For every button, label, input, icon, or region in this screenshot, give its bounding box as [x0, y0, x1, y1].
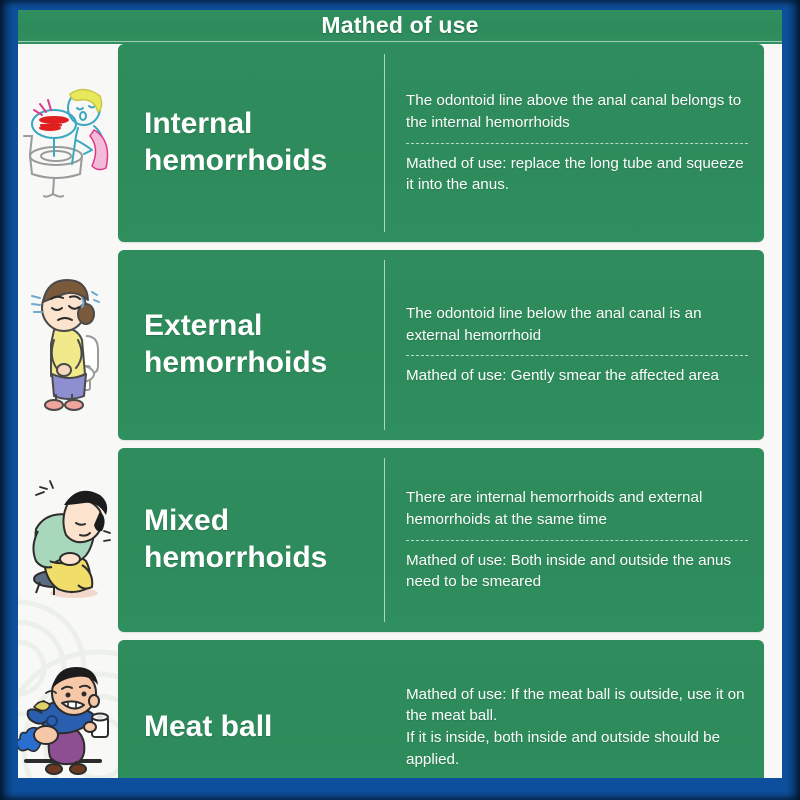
card-vertical-divider	[384, 458, 385, 622]
man-with-toilet-paper-illustration	[18, 657, 118, 778]
card-title-cell: Internal hemorrhoids	[118, 44, 384, 242]
illustration-cell	[18, 250, 118, 440]
card-dashed-divider	[406, 540, 748, 541]
card-description: There are internal hemorrhoids and exter…	[406, 487, 750, 530]
content-card: External hemorrhoids The odontoid line b…	[118, 250, 764, 440]
card-dashed-divider	[406, 143, 748, 144]
poster-body: Internal hemorrhoids The odontoid line a…	[18, 44, 782, 778]
content-card: Mixed hemorrhoids There are internal hem…	[118, 448, 764, 632]
card-title-cell: External hemorrhoids	[118, 250, 384, 440]
page-title: Mathed of use	[321, 14, 478, 40]
row-list: Internal hemorrhoids The odontoid line a…	[18, 44, 782, 778]
card-body-cell: The odontoid line above the anal canal b…	[384, 44, 764, 242]
card-method: Mathed of use: Gently smear the affected…	[406, 365, 750, 387]
poster-inner-panel: Mathed of use	[18, 10, 782, 778]
card-method: Mathed of use: replace the long tube and…	[406, 153, 750, 196]
card-dashed-divider	[406, 355, 748, 356]
content-card: Internal hemorrhoids The odontoid line a…	[118, 44, 764, 242]
card-method: Mathed of use: If the meat ball is outsi…	[406, 684, 750, 770]
card-method: Mathed of use: Both inside and outside t…	[406, 550, 750, 593]
illustration-cell	[18, 448, 118, 632]
man-hunched-on-stool-illustration	[20, 465, 116, 615]
person-at-toilet-bleeding-illustration	[20, 68, 116, 218]
illustration-cell	[18, 44, 118, 242]
poster-title-bar: Mathed of use	[18, 10, 782, 44]
card-description: The odontoid line above the anal canal b…	[406, 90, 750, 133]
card-body-cell: The odontoid line below the anal canal i…	[384, 250, 764, 440]
title-underline	[18, 41, 782, 42]
card-title: Internal hemorrhoids	[144, 106, 384, 179]
card-description: The odontoid line below the anal canal i…	[406, 303, 750, 346]
row-internal-hemorrhoids: Internal hemorrhoids The odontoid line a…	[18, 44, 782, 250]
card-vertical-divider	[384, 260, 385, 430]
card-title-cell: Meat ball	[118, 640, 384, 778]
row-mixed-hemorrhoids: Mixed hemorrhoids There are internal hem…	[18, 448, 782, 640]
content-card: Meat ball Mathed of use: If the meat bal…	[118, 640, 764, 778]
card-body-cell: Mathed of use: If the meat ball is outsi…	[384, 640, 764, 778]
woman-sitting-on-toilet-illustration	[20, 270, 116, 420]
card-title-cell: Mixed hemorrhoids	[118, 448, 384, 632]
card-title: External hemorrhoids	[144, 308, 384, 381]
infographic-poster: Mathed of use	[0, 0, 800, 800]
card-body-cell: There are internal hemorrhoids and exter…	[384, 448, 764, 632]
card-title: Mixed hemorrhoids	[144, 503, 384, 576]
illustration-cell	[18, 640, 118, 778]
row-meat-ball: Meat ball Mathed of use: If the meat bal…	[18, 640, 782, 778]
card-vertical-divider	[384, 54, 385, 232]
card-title: Meat ball	[144, 709, 272, 746]
row-external-hemorrhoids: External hemorrhoids The odontoid line b…	[18, 250, 782, 448]
